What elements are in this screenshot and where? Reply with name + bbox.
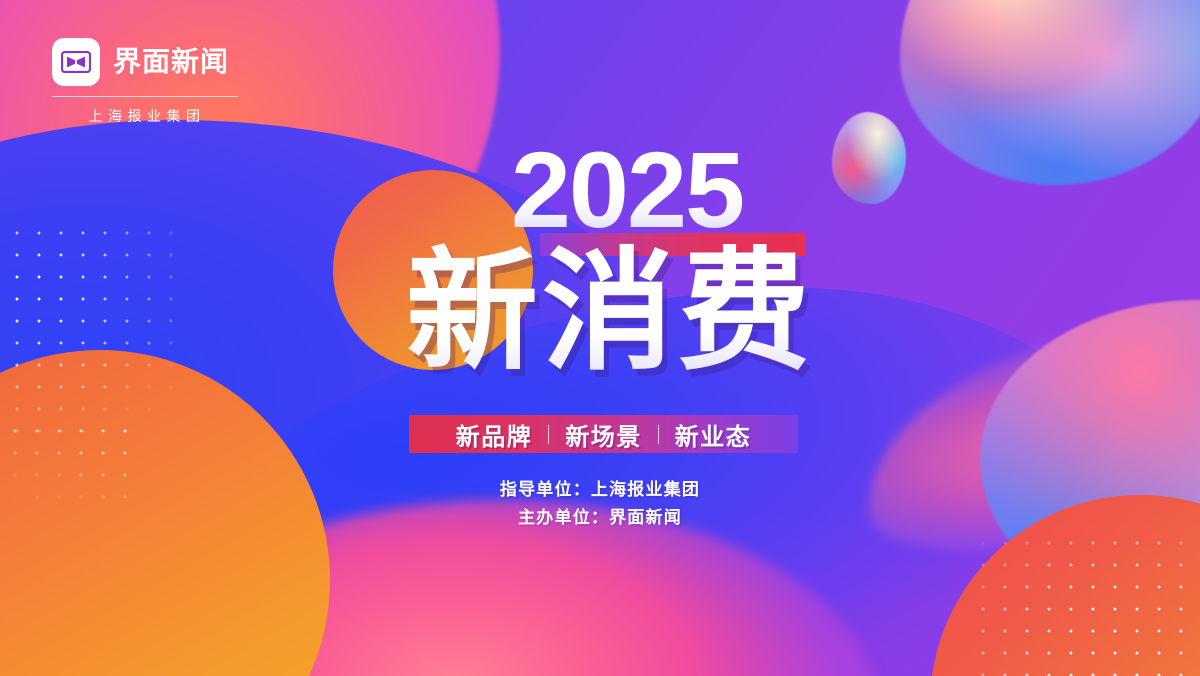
poster-canvas: 界面新闻 上海报业集团 2025 新消费 新品牌 新场景 新业态 指导单位：上海… xyxy=(0,0,1200,676)
brand-wordmark: 界面新闻 xyxy=(113,48,229,76)
tagline-item-1: 新品牌 xyxy=(440,417,549,452)
jiemian-film-mark-icon xyxy=(52,38,100,86)
brand-parent-company: 上海报业集团 xyxy=(52,106,238,126)
tagline-item-3: 新业态 xyxy=(659,417,768,452)
brand-logo-row: 界面新闻 xyxy=(52,38,238,86)
credit-line-guidance: 指导单位：上海报业集团 xyxy=(0,476,1200,504)
event-year: 2025 xyxy=(27,136,1200,244)
credits-block: 指导单位：上海报业集团 主办单位：界面新闻 xyxy=(0,476,1200,531)
tagline-bar: 新品牌 新场景 新业态 xyxy=(409,415,798,453)
event-title: 新消费 xyxy=(10,238,1200,386)
tagline-item-2: 新场景 xyxy=(549,417,658,452)
credit-line-organizer: 主办单位：界面新闻 xyxy=(0,504,1200,532)
brand-logo[interactable]: 界面新闻 上海报业集团 xyxy=(52,38,238,126)
brand-logo-divider xyxy=(52,96,238,97)
